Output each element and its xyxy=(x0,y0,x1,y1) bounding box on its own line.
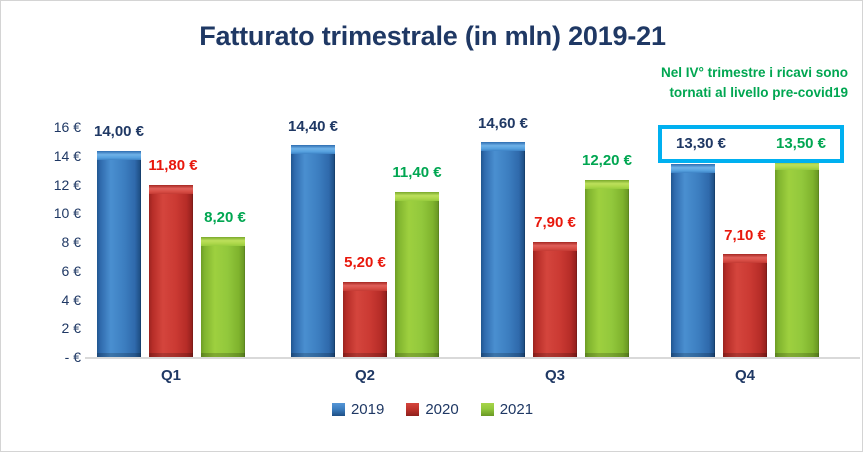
bar-base-shadow xyxy=(395,353,439,357)
bar-base-shadow xyxy=(291,353,335,357)
bar-2021-q1[interactable] xyxy=(201,237,245,357)
chart-container: Fatturato trimestrale (in mln) 2019-21 N… xyxy=(0,0,863,452)
bar-top-bevel xyxy=(149,185,193,194)
y-axis-tick-12: 12 € xyxy=(21,177,81,193)
bar-base-shadow xyxy=(775,353,819,357)
bar-2021-q3[interactable] xyxy=(585,180,629,357)
plot-area: 16 € 14 € 12 € 10 € 8 € 6 € 4 € 2 € - € xyxy=(1,1,863,452)
bar-top-bevel xyxy=(671,164,715,173)
bar-2019-q4[interactable] xyxy=(671,164,715,357)
bar-body xyxy=(481,142,525,357)
data-label-2021-q1: 8,20 € xyxy=(204,209,246,226)
x-axis-label-q4: Q4 xyxy=(735,367,755,384)
bar-body xyxy=(671,164,715,357)
bar-body xyxy=(395,192,439,357)
bar-top-bevel xyxy=(291,145,335,154)
legend-label-2021: 2021 xyxy=(500,401,533,418)
data-label-2020-q4: 7,10 € xyxy=(724,227,766,244)
data-label-2020-q2: 5,20 € xyxy=(344,254,386,271)
bar-2020-q4[interactable] xyxy=(723,254,767,357)
bar-base-shadow xyxy=(149,353,193,357)
bar-top-bevel xyxy=(723,254,767,263)
bar-body xyxy=(533,242,577,357)
bar-body xyxy=(291,145,335,357)
bar-base-shadow xyxy=(201,353,245,357)
bar-body xyxy=(585,180,629,357)
y-axis-tick-0: - € xyxy=(21,349,81,365)
legend-item-2020[interactable]: 2020 xyxy=(406,401,458,418)
bar-2020-q3[interactable] xyxy=(533,242,577,357)
y-axis-tick-8: 8 € xyxy=(21,234,81,250)
bar-top-bevel xyxy=(395,192,439,201)
bar-base-shadow xyxy=(481,353,525,357)
legend-label-2020: 2020 xyxy=(425,401,458,418)
legend-item-2019[interactable]: 2019 xyxy=(332,401,384,418)
bar-base-shadow xyxy=(533,353,577,357)
bar-body xyxy=(201,237,245,357)
bar-top-bevel xyxy=(585,180,629,189)
bar-2020-q2[interactable] xyxy=(343,282,387,357)
legend-swatch-icon-2021 xyxy=(481,403,494,416)
bar-2019-q1[interactable] xyxy=(97,151,141,357)
data-label-2021-q2: 11,40 € xyxy=(392,164,441,181)
bar-body xyxy=(149,185,193,357)
legend-swatch-icon-2019 xyxy=(332,403,345,416)
chart-legend: 2019 2020 2021 xyxy=(1,401,863,418)
legend-swatch-icon-2020 xyxy=(406,403,419,416)
bar-base-shadow xyxy=(671,353,715,357)
data-label-2019-q3: 14,60 € xyxy=(478,115,528,132)
bar-base-shadow xyxy=(723,353,767,357)
data-label-2019-q2: 14,40 € xyxy=(288,118,338,135)
y-axis-tick-6: 6 € xyxy=(21,263,81,279)
bar-2019-q3[interactable] xyxy=(481,142,525,357)
data-label-2021-q3: 12,20 € xyxy=(582,152,632,169)
bar-2021-q4[interactable] xyxy=(775,161,819,357)
data-label-2021-q4: 13,50 € xyxy=(776,135,826,152)
bar-top-bevel xyxy=(481,142,525,151)
bar-body xyxy=(723,254,767,357)
bar-top-bevel xyxy=(97,151,141,160)
bar-2020-q1[interactable] xyxy=(149,185,193,357)
bar-base-shadow xyxy=(585,353,629,357)
bar-2021-q2[interactable] xyxy=(395,192,439,357)
x-axis-line xyxy=(85,357,860,359)
x-axis-label-q2: Q2 xyxy=(355,367,375,384)
y-axis-tick-10: 10 € xyxy=(21,205,81,221)
y-axis-tick-16: 16 € xyxy=(21,119,81,135)
bar-body xyxy=(97,151,141,357)
y-axis-tick-2: 2 € xyxy=(21,320,81,336)
bar-base-shadow xyxy=(343,353,387,357)
bar-top-bevel xyxy=(201,237,245,246)
legend-label-2019: 2019 xyxy=(351,401,384,418)
bar-body xyxy=(775,161,819,357)
data-label-2019-q4: 13,30 € xyxy=(676,135,726,152)
bar-2019-q2[interactable] xyxy=(291,145,335,357)
bar-base-shadow xyxy=(97,353,141,357)
bar-body xyxy=(343,282,387,357)
x-axis-label-q1: Q1 xyxy=(161,367,181,384)
bar-top-bevel xyxy=(533,242,577,251)
y-axis-tick-4: 4 € xyxy=(21,292,81,308)
x-axis-label-q3: Q3 xyxy=(545,367,565,384)
y-axis-tick-14: 14 € xyxy=(21,148,81,164)
data-label-2019-q1: 14,00 € xyxy=(94,123,144,140)
data-label-2020-q1: 11,80 € xyxy=(148,157,197,174)
y-axis: 16 € 14 € 12 € 10 € 8 € 6 € 4 € 2 € - € xyxy=(19,1,81,452)
bar-top-bevel xyxy=(343,282,387,291)
legend-item-2021[interactable]: 2021 xyxy=(481,401,533,418)
data-label-2020-q3: 7,90 € xyxy=(534,214,576,231)
